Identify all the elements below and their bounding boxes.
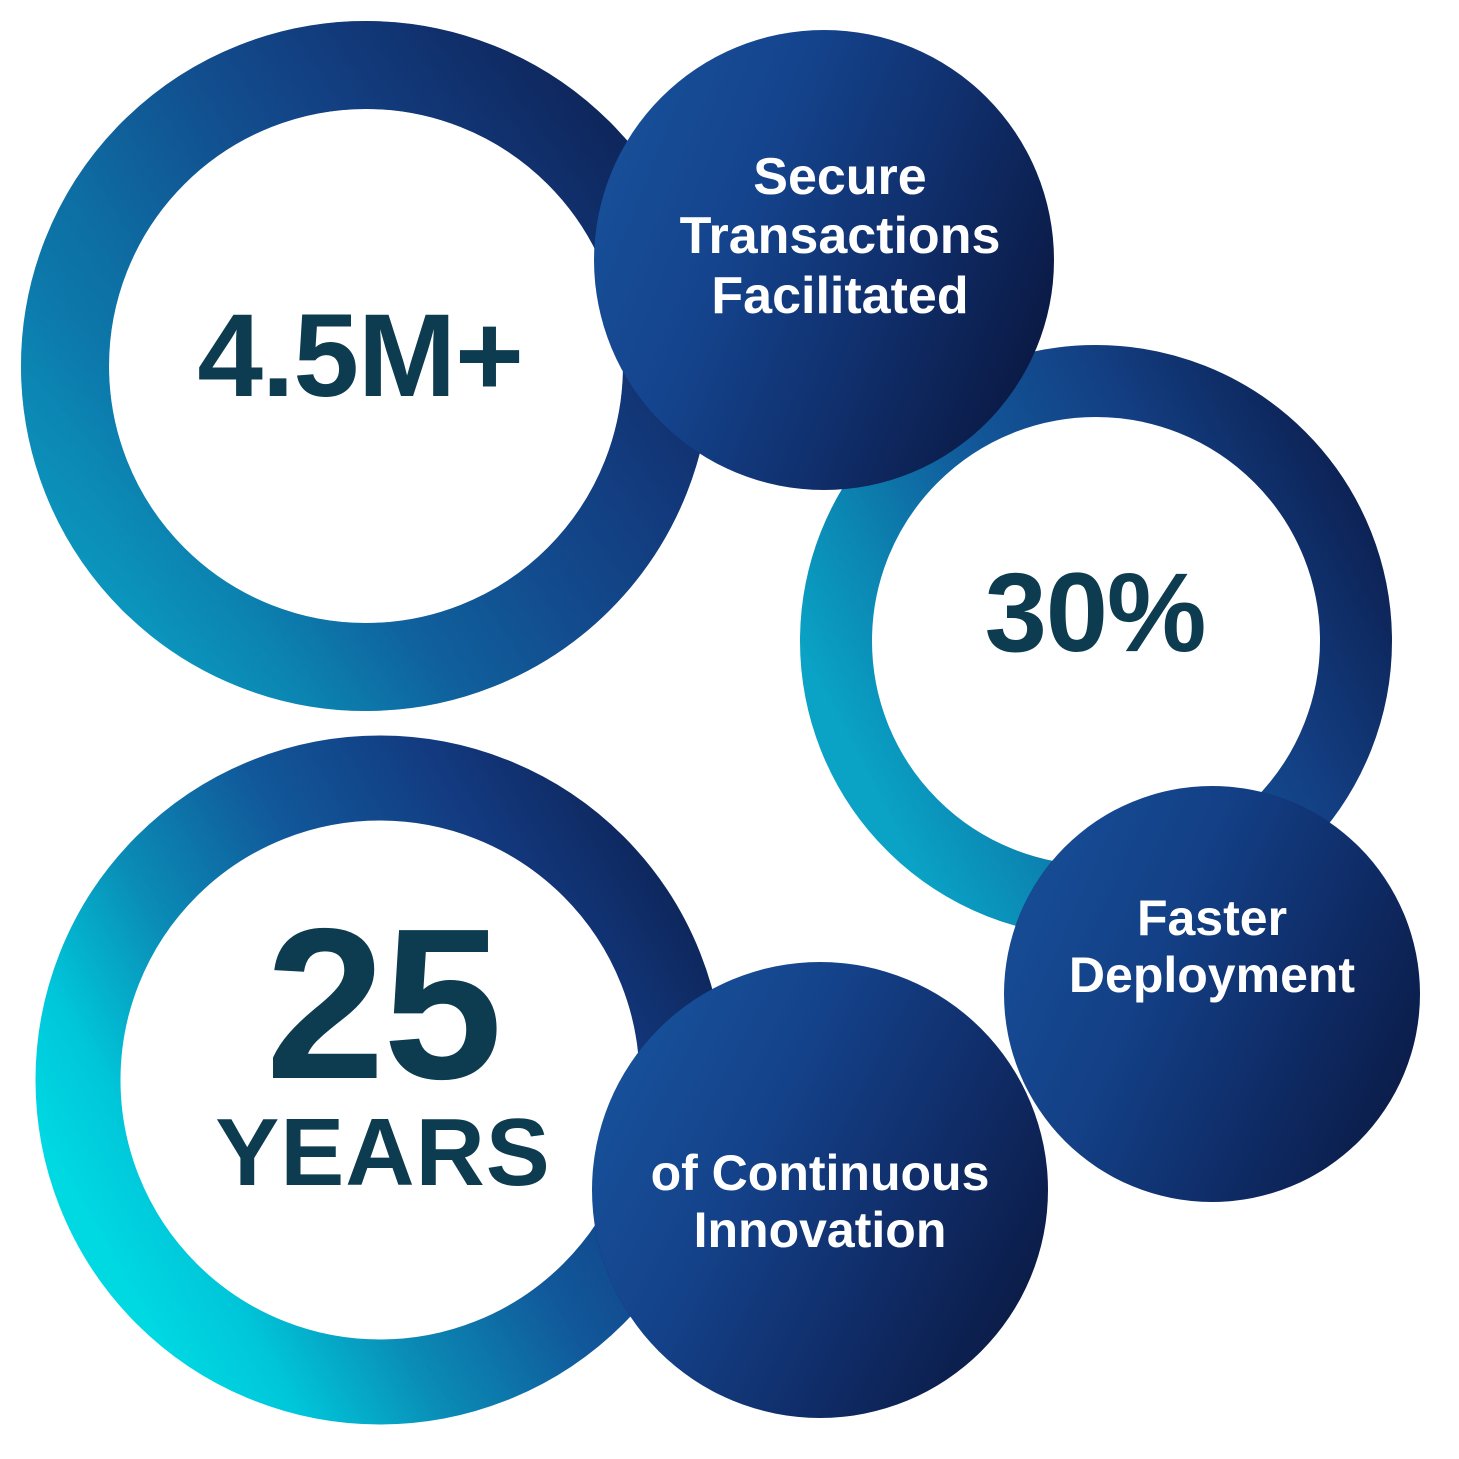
stat-value-years-number: 25 <box>148 905 618 1103</box>
label-line: Innovation <box>608 1202 1032 1259</box>
label-line: Deployment <box>1022 947 1402 1004</box>
stat-value-secure-transactions: 4.5M+ <box>100 300 620 412</box>
stat-value-years-innovation: 25 YEARS <box>148 905 618 1201</box>
stat-value-years-unit: YEARS <box>148 1105 618 1201</box>
infographic-canvas: 4.5M+ Secure Transactions Facilitated 30… <box>0 0 1459 1459</box>
label-line: Faster <box>1022 890 1402 947</box>
stat-label-years-innovation: of Continuous Innovation <box>608 1145 1032 1259</box>
stat-label-secure-transactions: Secure Transactions Facilitated <box>620 148 1060 326</box>
label-line: Transactions <box>620 207 1060 266</box>
stat-value-faster-deployment: 30% <box>860 560 1330 666</box>
stat-label-faster-deployment: Faster Deployment <box>1022 890 1402 1004</box>
label-line: Secure <box>620 148 1060 207</box>
label-line: Facilitated <box>620 267 1060 326</box>
label-line: of Continuous <box>608 1145 1032 1202</box>
